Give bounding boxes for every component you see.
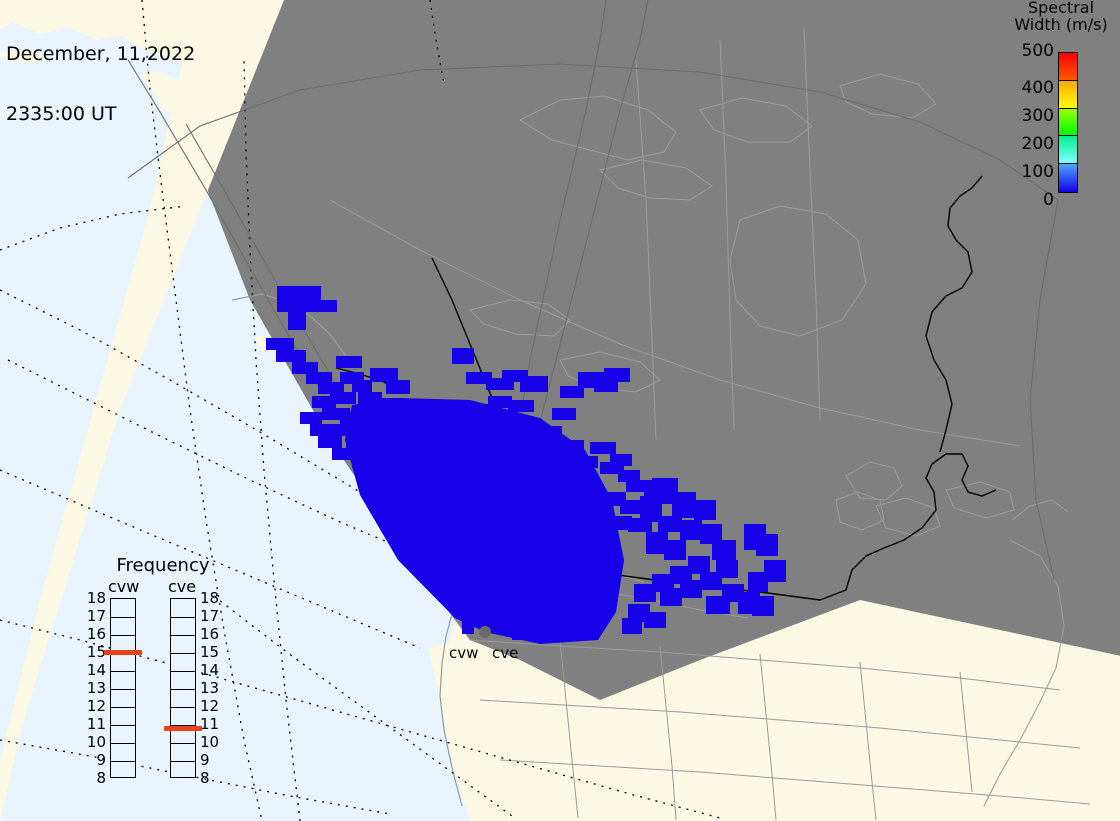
frequency-tick: [111, 689, 135, 690]
frequency-title: Frequency: [78, 556, 248, 575]
frequency-tick: [111, 743, 135, 744]
frequency-tick: [171, 617, 195, 618]
frequency-tick-label: 14: [200, 663, 228, 678]
colorbar-segment-0-100: [1059, 164, 1077, 192]
frequency-tick: [171, 635, 195, 636]
radar-site-marker: [479, 626, 491, 638]
frequency-tick: [111, 617, 135, 618]
frequency-tick: [111, 635, 135, 636]
colorbar-segment-100-200: [1059, 136, 1077, 164]
colorbar-tick-300: 300: [1022, 108, 1054, 125]
frequency-tick-label: 10: [200, 735, 228, 750]
frequency-tick-label: 17: [78, 609, 106, 624]
site-label-cvw: cvw: [449, 646, 478, 661]
frequency-tick-label: 9: [78, 753, 106, 768]
colorbar-title-line2: Width (m/s): [1002, 16, 1120, 33]
colorbar-segment-200-300: [1059, 109, 1077, 137]
site-label-cve: cve: [492, 646, 518, 661]
frequency-tick-label: 11: [200, 717, 228, 732]
frequency-tick-label: 11: [78, 717, 106, 732]
frequency-tick: [111, 707, 135, 708]
frequency-column-label-cve: cve: [168, 578, 196, 595]
frequency-tick-label: 18: [78, 591, 106, 606]
colorbar-segment-400-500: [1059, 53, 1077, 81]
frequency-tick: [171, 689, 195, 690]
frequency-tick-label: 17: [200, 609, 228, 624]
timestamp: December, 11,2022 2335:00 UT: [6, 4, 195, 164]
frequency-tick: [171, 743, 195, 744]
colorbar-gradient: [1058, 52, 1078, 193]
colorbar: Spectral Width (m/s) 500 400 300 200 100…: [1002, 0, 1120, 200]
frequency-panel: Frequency cvw cve 1817161514131211109818…: [78, 556, 248, 806]
date-text: December, 11,2022: [6, 44, 195, 64]
colorbar-tick-200: 200: [1022, 136, 1054, 153]
frequency-gauge-cvw: [110, 598, 136, 778]
time-text: 2335:00 UT: [6, 104, 195, 124]
frequency-tick-label: 10: [78, 735, 106, 750]
frequency-tick-label: 12: [200, 699, 228, 714]
frequency-tick: [171, 761, 195, 762]
frequency-marker-cve: [164, 726, 202, 731]
colorbar-title: Spectral Width (m/s): [1002, 0, 1120, 33]
frequency-tick-label: 13: [78, 681, 106, 696]
frequency-tick-label: 9: [200, 753, 228, 768]
frequency-tick-label: 12: [78, 699, 106, 714]
superdarn-fan-plot: December, 11,2022 2335:00 UT Spectral Wi…: [0, 0, 1120, 821]
frequency-tick-label: 15: [78, 645, 106, 660]
frequency-tick-label: 15: [200, 645, 228, 660]
colorbar-tick-0: 0: [1043, 192, 1054, 209]
colorbar-tick-100: 100: [1022, 164, 1054, 181]
frequency-tick: [111, 761, 135, 762]
frequency-tick: [111, 725, 135, 726]
frequency-tick-label: 14: [78, 663, 106, 678]
frequency-tick-label: 16: [200, 627, 228, 642]
frequency-column-label-cvw: cvw: [108, 578, 139, 595]
frequency-tick-label: 8: [78, 771, 106, 786]
frequency-gauge-cve: [170, 598, 196, 778]
frequency-tick-label: 18: [200, 591, 228, 606]
frequency-tick: [171, 671, 195, 672]
frequency-tick-label: 16: [78, 627, 106, 642]
frequency-tick: [111, 671, 135, 672]
frequency-tick: [171, 707, 195, 708]
frequency-tick: [171, 653, 195, 654]
colorbar-tick-500: 500: [1022, 43, 1054, 60]
colorbar-segment-300-400: [1059, 81, 1077, 109]
frequency-tick-label: 8: [200, 771, 228, 786]
frequency-marker-cvw: [104, 650, 142, 655]
colorbar-tick-400: 400: [1022, 80, 1054, 97]
colorbar-title-line1: Spectral: [1002, 0, 1120, 16]
frequency-tick-label: 13: [200, 681, 228, 696]
